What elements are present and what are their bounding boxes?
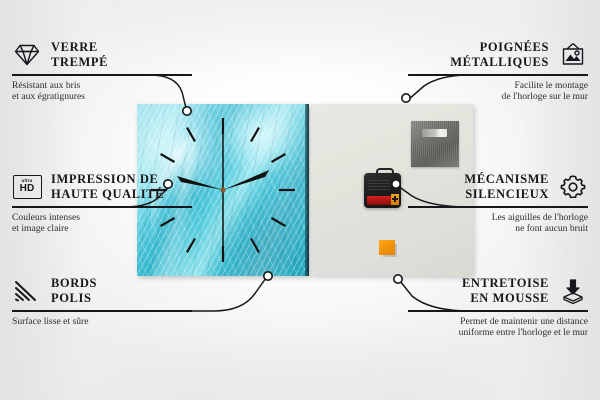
infographic-canvas: VERRE TREMPÉ Résistant aux bris et aux é… [0, 0, 600, 400]
feature-divider [408, 310, 588, 312]
ultra-hd-badge-icon: ultra HD [12, 173, 42, 201]
feature-description: Couleurs intenses et image claire [12, 212, 192, 235]
feature-title: VERRE TREMPÉ [51, 40, 108, 69]
foam-spacer [379, 240, 395, 255]
feature-title: MÉCANISME SILENCIEUX [464, 172, 549, 201]
feature-title: BORDS POLIS [51, 276, 97, 305]
feature-poignees-metalliques: POIGNÉES MÉTALLIQUES Facilite le montage… [408, 40, 588, 103]
diamond-icon [12, 41, 42, 69]
feature-header: POIGNÉES MÉTALLIQUES [408, 40, 588, 69]
feature-title: IMPRESSION DE HAUTE QUALITÉ [51, 172, 164, 201]
feature-impression-haute-qualite: ultra HD IMPRESSION DE HAUTE QUALITÉ Cou… [12, 172, 192, 235]
feature-header: ENTRETOISE EN MOUSSE [408, 276, 588, 305]
feature-description: Surface lisse et sûre [12, 316, 192, 328]
feature-divider [408, 74, 588, 76]
feature-description: Facilite le montage de l'horloge sur le … [408, 80, 588, 103]
feature-entretoise-en-mousse: ENTRETOISE EN MOUSSE Permet de maintenir… [408, 276, 588, 339]
gear-icon [558, 173, 588, 201]
hanger-slot [422, 129, 447, 137]
connector-dot-entretoise [394, 275, 402, 283]
clock-mechanism [364, 173, 401, 208]
feature-description: Permet de maintenir une distance uniform… [408, 316, 588, 339]
feature-header: MÉCANISME SILENCIEUX [408, 172, 588, 201]
feature-divider [12, 206, 192, 208]
feature-verre-trempe: VERRE TREMPÉ Résistant aux bris et aux é… [12, 40, 192, 103]
glass-panel-edge [305, 104, 309, 276]
feature-bords-polis: BORDS POLIS Surface lisse et sûre [12, 276, 192, 327]
feature-title: ENTRETOISE EN MOUSSE [462, 276, 549, 305]
mechanism-label [368, 179, 390, 190]
down-arrow-stack-icon [558, 277, 588, 305]
polished-edges-icon [12, 277, 42, 305]
battery-plus-terminal [391, 194, 399, 205]
metal-hanger-plate [411, 121, 459, 167]
feature-description: Résistant aux bris et aux égratignures [12, 80, 192, 103]
feature-mecanisme-silencieux: MÉCANISME SILENCIEUX Les aiguilles de l'… [408, 172, 588, 235]
feature-header: VERRE TREMPÉ [12, 40, 192, 69]
feature-description: Les aiguilles de l'horloge ne font aucun… [408, 212, 588, 235]
hd-label: HD [20, 184, 35, 194]
feature-divider [12, 310, 192, 312]
feature-divider [12, 74, 192, 76]
feature-header: ultra HD IMPRESSION DE HAUTE QUALITÉ [12, 172, 192, 201]
mechanism-hook [376, 168, 394, 178]
feature-title: POIGNÉES MÉTALLIQUES [450, 40, 549, 69]
feature-header: BORDS POLIS [12, 276, 192, 305]
feature-divider [408, 206, 588, 208]
picture-frame-icon [558, 41, 588, 69]
